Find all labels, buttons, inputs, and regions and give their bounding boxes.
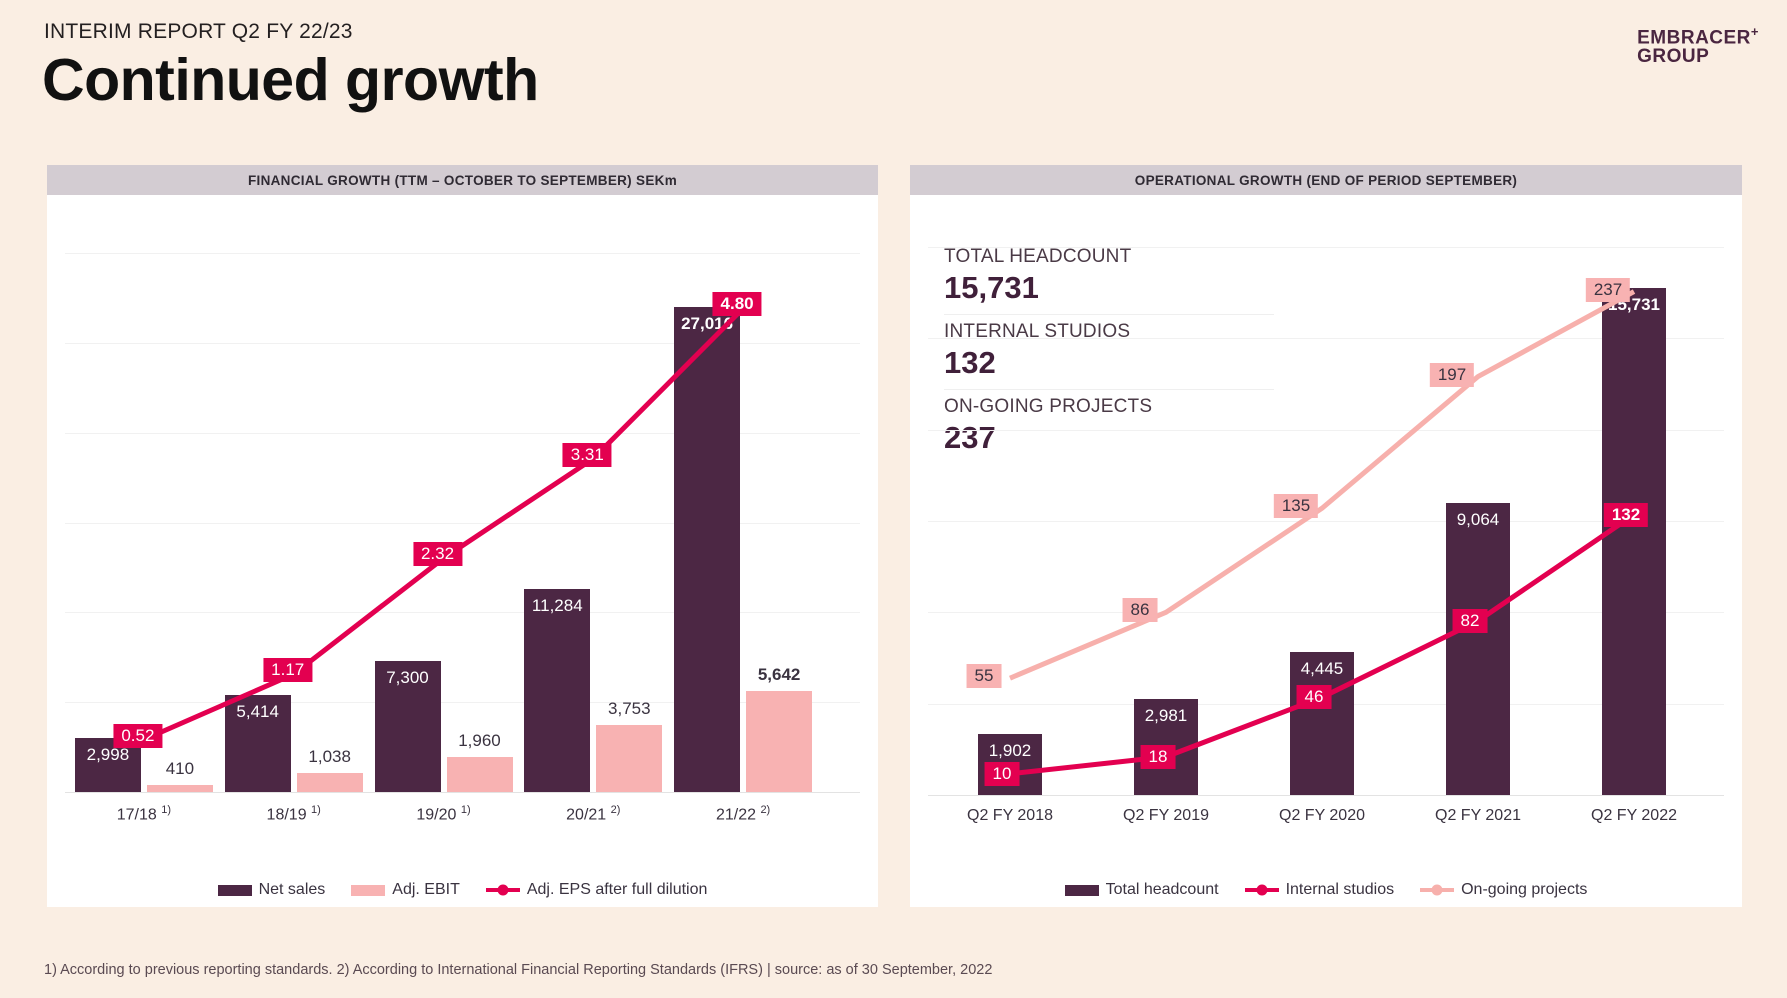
logo-plus-icon: +: [1751, 24, 1759, 39]
category-label: 21/22 2): [653, 804, 833, 824]
legend-item[interactable]: Adj. EBIT: [351, 881, 460, 899]
line-point-label: 55: [967, 664, 1002, 688]
legend-swatch-icon: [351, 885, 385, 896]
line-point-label: 86: [1123, 598, 1158, 622]
legend-item[interactable]: Internal studios: [1245, 881, 1395, 899]
operational-growth-chart: TOTAL HEADCOUNT15,731INTERNAL STUDIOS132…: [910, 195, 1742, 867]
legend-label: Total headcount: [1106, 881, 1219, 899]
financial-growth-heading: FINANCIAL GROWTH (TTM – OCTOBER TO SEPTE…: [47, 165, 878, 195]
legend-line-icon: [486, 888, 520, 892]
page-title: Continued growth: [42, 46, 539, 114]
legend-swatch-icon: [218, 885, 252, 896]
financial-growth-chart: 2,9985,4147,30011,28427,0164101,0381,960…: [47, 195, 878, 867]
legend-label: On-going projects: [1461, 881, 1587, 899]
line-point-label: 1.17: [263, 658, 312, 682]
logo-line-1: EMBRACER: [1637, 27, 1751, 48]
line-point-label: 2.32: [413, 542, 462, 566]
legend-item[interactable]: On-going projects: [1420, 881, 1587, 899]
line-point-label: 135: [1274, 494, 1318, 518]
series-line: [1010, 515, 1634, 774]
legend-label: Net sales: [259, 881, 326, 899]
financial-growth-panel: FINANCIAL GROWTH (TTM – OCTOBER TO SEPTE…: [47, 165, 878, 907]
line-point-label: 82: [1453, 609, 1488, 633]
legend-line-icon: [1420, 888, 1454, 892]
category-label: Q2 FY 2022: [1544, 807, 1724, 825]
report-eyebrow: INTERIM REPORT Q2 FY 22/23: [44, 20, 353, 44]
line-point-label: 18: [1141, 745, 1176, 769]
footnote: 1) According to previous reporting stand…: [44, 962, 992, 978]
legend-swatch-icon: [1065, 885, 1099, 896]
legend-item[interactable]: Net sales: [218, 881, 326, 899]
operational-growth-heading: OPERATIONAL GROWTH (END OF PERIOD SEPTEM…: [910, 165, 1742, 195]
legend-label: Adj. EBIT: [392, 881, 460, 899]
series-line: [1010, 292, 1634, 679]
legend-item[interactable]: Adj. EPS after full dilution: [486, 881, 708, 899]
category-label: Q2 FY 2019: [1076, 807, 1256, 825]
legend-label: Internal studios: [1286, 881, 1395, 899]
line-point-label: 10: [985, 762, 1020, 786]
category-label: Q2 FY 2020: [1232, 807, 1412, 825]
line-point-label: 0.52: [113, 724, 162, 748]
legend-marker-icon: [1432, 885, 1443, 896]
financial-growth-legend: Net salesAdj. EBITAdj. EPS after full di…: [47, 881, 878, 899]
category-label: Q2 FY 2021: [1388, 807, 1568, 825]
line-point-label: 4.80: [713, 292, 762, 316]
line-point-label: 132: [1604, 503, 1648, 527]
legend-item[interactable]: Total headcount: [1065, 881, 1219, 899]
operational-growth-panel: OPERATIONAL GROWTH (END OF PERIOD SEPTEM…: [910, 165, 1742, 907]
line-point-label: 197: [1430, 363, 1474, 387]
legend-line-icon: [1245, 888, 1279, 892]
embracer-group-logo: EMBRACER+ GROUP: [1637, 22, 1759, 66]
slide: INTERIM REPORT Q2 FY 22/23 Continued gro…: [0, 0, 1787, 998]
line-point-label: 237: [1586, 278, 1630, 302]
line-point-label: 46: [1297, 685, 1332, 709]
legend-marker-icon: [497, 885, 508, 896]
series-line: [144, 308, 743, 739]
category-label: Q2 FY 2018: [920, 807, 1100, 825]
logo-line-2: GROUP: [1637, 46, 1709, 67]
line-point-label: 3.31: [563, 443, 612, 467]
legend-label: Adj. EPS after full dilution: [527, 881, 708, 899]
legend-marker-icon: [1256, 885, 1267, 896]
operational-growth-legend: Total headcountInternal studiosOn-going …: [910, 881, 1742, 899]
